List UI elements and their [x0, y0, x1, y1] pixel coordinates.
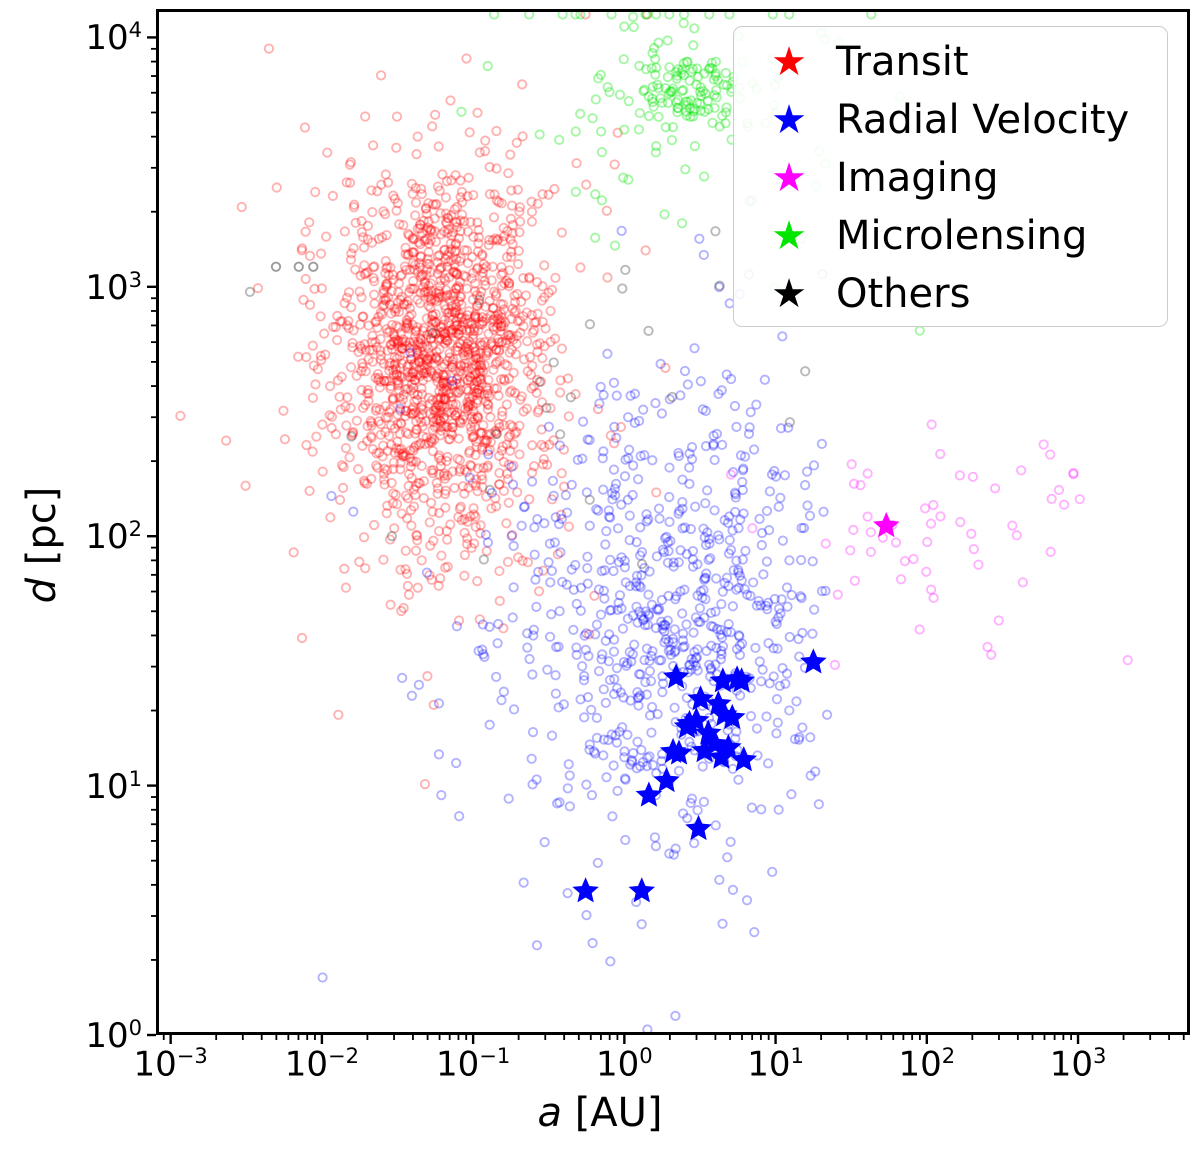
scatter-point — [750, 928, 758, 936]
scatter-point — [620, 747, 628, 755]
scatter-point — [757, 677, 765, 685]
scatter-point — [995, 616, 1003, 624]
x-tick-mantissa: 10 — [436, 1044, 479, 1084]
scatter-point — [528, 441, 536, 449]
scatter-point — [732, 423, 740, 431]
x-tick-exponent: 2 — [942, 1043, 955, 1068]
scatter-point — [723, 853, 731, 861]
scatter-point — [753, 724, 761, 732]
scatter-point — [505, 499, 513, 507]
scatter-point — [675, 767, 683, 775]
scatter-point — [603, 350, 611, 358]
legend-box[interactable]: ★Transit★Radial Velocity★Imaging★Microle… — [733, 26, 1168, 327]
scatter-point — [1046, 450, 1054, 458]
scatter-point — [565, 522, 573, 530]
scatter-point — [970, 545, 978, 553]
scatter-point — [1017, 466, 1025, 474]
scatter-point — [327, 492, 335, 500]
scatter-point — [783, 583, 791, 591]
scatter-point — [558, 469, 566, 477]
y-tick-exponent: 4 — [129, 17, 142, 42]
scatter-point — [309, 394, 317, 402]
scatter-point — [519, 878, 527, 886]
scatter-point — [663, 36, 671, 44]
legend-item-imaging[interactable]: ★Imaging — [734, 149, 1167, 207]
scatter-point — [466, 128, 474, 136]
scatter-point — [660, 210, 668, 218]
scatter-point — [591, 234, 599, 242]
scatter-point — [456, 176, 464, 184]
scatter-point — [678, 219, 686, 227]
scatter-point — [851, 577, 859, 585]
scatter-point — [423, 672, 431, 680]
scatter-point — [809, 557, 817, 565]
scatter-point — [600, 685, 608, 693]
legend-item-radial-velocity[interactable]: ★Radial Velocity — [734, 91, 1167, 149]
scatter-point — [629, 13, 637, 21]
scatter-point — [548, 731, 556, 739]
scatter-point — [786, 418, 794, 426]
scatter-point — [707, 642, 715, 650]
scatter-point — [712, 821, 720, 829]
scatter-point — [311, 380, 319, 388]
scatter-point — [508, 201, 516, 209]
scatter-point — [848, 460, 856, 468]
scatter-point — [671, 625, 679, 633]
scatter-point — [652, 12, 660, 19]
legend-star-icon: ★ — [764, 42, 814, 82]
scatter-point — [476, 148, 484, 156]
scatter-point — [510, 705, 518, 713]
scatter-point — [556, 548, 564, 556]
scatter-point — [665, 463, 673, 471]
scatter-point — [495, 480, 503, 488]
y-tick-mantissa: 10 — [85, 517, 128, 557]
scatter-point — [379, 556, 387, 564]
scatter-point — [461, 551, 469, 559]
scatter-point — [863, 469, 871, 477]
scatter-point — [360, 243, 368, 251]
scatter-point — [676, 391, 684, 399]
scatter-point — [582, 180, 590, 188]
scatter-point — [630, 23, 638, 31]
scatter-point — [281, 435, 289, 443]
scatter-point — [596, 383, 604, 391]
scatter-point — [755, 515, 763, 523]
scatter-point — [420, 494, 428, 502]
scatter-point — [408, 692, 416, 700]
scatter-point — [316, 312, 324, 320]
scatter-point — [753, 751, 761, 759]
scatter-point — [528, 217, 536, 225]
scatter-point — [654, 113, 662, 121]
scatter-point — [595, 399, 603, 407]
scatter-point — [668, 136, 676, 144]
scatter-point — [724, 620, 732, 628]
scatter-point — [547, 610, 555, 618]
scatter-point — [495, 567, 503, 575]
x-tick-label-5: 102 — [898, 1045, 955, 1081]
scatter-point — [763, 507, 771, 515]
x-axis-symbol: a — [537, 1090, 562, 1136]
scatter-point — [936, 450, 944, 458]
scatter-point — [509, 583, 517, 591]
x-tick-exponent: 0 — [639, 1043, 652, 1068]
scatter-point — [723, 574, 731, 582]
scatter-point — [751, 644, 759, 652]
scatter-point — [437, 551, 445, 559]
scatter-point — [533, 310, 541, 318]
scatter-point — [703, 486, 711, 494]
legend-label: Microlensing — [836, 213, 1087, 259]
y-axis-symbol: d — [19, 578, 65, 603]
scatter-point — [591, 190, 599, 198]
scatter-point — [729, 886, 737, 894]
scatter-point — [548, 567, 556, 575]
scatter-point — [743, 896, 751, 904]
scatter-point — [418, 556, 426, 564]
scatter-point — [514, 260, 522, 268]
scatter-point — [412, 150, 420, 158]
scatter-point — [326, 382, 334, 390]
scatter-point — [370, 299, 378, 307]
scatter-point — [546, 633, 554, 641]
scatter-point — [361, 564, 369, 572]
scatter-point — [582, 911, 590, 919]
y-tick-mantissa: 10 — [85, 19, 128, 59]
scatter-point — [586, 522, 594, 530]
scatter-point — [551, 274, 559, 282]
scatter-point — [810, 605, 818, 613]
scatter-point — [586, 320, 594, 328]
scatter-point — [909, 555, 917, 563]
scatter-point — [398, 509, 406, 517]
scatter-point — [438, 170, 446, 178]
scatter-point — [294, 353, 302, 361]
x-tick-exponent: −1 — [479, 1043, 510, 1068]
scatter-point — [323, 148, 331, 156]
scatter-point — [332, 430, 340, 438]
scatter-point — [516, 217, 524, 225]
scatter-point — [603, 207, 611, 215]
scatter-point — [748, 803, 756, 811]
scatter-point — [428, 122, 436, 130]
scatter-point — [552, 689, 560, 697]
scatter-point — [415, 681, 423, 689]
scatter-point — [407, 521, 415, 529]
scatter-point — [490, 12, 498, 19]
scatter-point — [616, 91, 624, 99]
scatter-point — [593, 714, 601, 722]
scatter-point — [306, 252, 314, 260]
scatter-point — [648, 456, 656, 464]
scatter-point — [573, 600, 581, 608]
scatter-point — [426, 518, 434, 526]
scatter-point — [414, 584, 422, 592]
scatter-point — [610, 379, 618, 387]
scatter-point — [543, 666, 551, 674]
scatter-point — [987, 651, 995, 659]
scatter-point — [556, 388, 564, 396]
scatter-point — [700, 172, 708, 180]
scatter-point — [785, 556, 793, 564]
scatter-point — [319, 467, 327, 475]
scatter-point — [386, 601, 394, 609]
scatter-point — [685, 463, 693, 471]
highlight-star-marker — [653, 767, 679, 792]
scatter-point — [457, 108, 465, 116]
scatter-point — [555, 136, 563, 144]
scatter-point — [867, 528, 875, 536]
scatter-point — [665, 518, 673, 526]
scatter-point — [750, 445, 758, 453]
scatter-point — [658, 409, 666, 417]
x-axis-title: a [AU] — [0, 1090, 1200, 1136]
scatter-point — [726, 536, 734, 544]
scatter-point — [620, 22, 628, 30]
scatter-point — [513, 290, 521, 298]
scatter-point — [621, 836, 629, 844]
scatter-point — [734, 776, 742, 784]
scatter-point — [785, 12, 793, 19]
scatter-point — [305, 218, 313, 226]
scatter-point — [402, 547, 410, 555]
scatter-point — [504, 169, 512, 177]
scatter-point — [991, 484, 999, 492]
scatter-point — [1060, 501, 1068, 509]
scatter-point — [458, 198, 466, 206]
x-tick-label-6: 103 — [1050, 1045, 1107, 1081]
scatter-point — [729, 602, 737, 610]
scatter-point — [696, 604, 704, 612]
scatter-point — [617, 227, 625, 235]
scatter-point — [599, 391, 607, 399]
scatter-point — [808, 630, 816, 638]
scatter-point — [369, 141, 377, 149]
scatter-point — [689, 41, 697, 49]
scatter-point — [678, 609, 686, 617]
x-tick-label-0: 10−3 — [133, 1045, 207, 1081]
scatter-point — [772, 729, 780, 737]
scatter-point — [646, 667, 654, 675]
scatter-point — [528, 362, 536, 370]
scatter-point — [747, 408, 755, 416]
scatter-point — [619, 624, 627, 632]
scatter-point — [1046, 548, 1054, 556]
scatter-point — [301, 123, 309, 131]
scatter-point — [623, 731, 631, 739]
scatter-point — [309, 341, 317, 349]
scatter-point — [620, 55, 628, 63]
scatter-point — [597, 127, 605, 135]
scatter-point — [621, 266, 629, 274]
scatter-point — [606, 556, 614, 564]
scatter-point — [505, 794, 513, 802]
scatter-point — [787, 790, 795, 798]
scatter-point — [368, 208, 376, 216]
scatter-point — [342, 444, 350, 452]
scatter-point — [572, 127, 580, 135]
scatter-point — [956, 471, 964, 479]
y-tick-exponent: 2 — [129, 516, 142, 541]
scatter-point — [360, 533, 368, 541]
scatter-point — [299, 296, 307, 304]
scatter-point — [927, 420, 935, 428]
legend-item-transit[interactable]: ★Transit — [734, 33, 1167, 91]
legend-label: Radial Velocity — [836, 97, 1129, 143]
scatter-point — [801, 481, 809, 489]
scatter-point — [302, 441, 310, 449]
scatter-point — [602, 773, 610, 781]
scatter-point — [823, 711, 831, 719]
scatter-point — [606, 957, 614, 965]
scatter-point — [774, 806, 782, 814]
scatter-point — [929, 501, 937, 509]
highlight-star-marker — [572, 877, 598, 902]
scatter-point — [493, 639, 501, 647]
highlight-star-marker — [873, 512, 899, 537]
scatter-point — [717, 600, 725, 608]
scatter-point — [927, 585, 935, 593]
scatter-point — [566, 802, 574, 810]
scatter-point — [665, 12, 673, 19]
legend-item-others[interactable]: ★Others — [734, 265, 1167, 323]
scatter-point — [361, 112, 369, 120]
scatter-point — [587, 706, 595, 714]
scatter-point — [176, 412, 184, 420]
scatter-point — [309, 263, 317, 271]
scatter-point — [562, 491, 570, 499]
scatter-point — [551, 671, 559, 679]
scatter-point — [414, 132, 422, 140]
scatter-point — [572, 188, 580, 196]
scatter-point — [540, 261, 548, 269]
scatter-point — [523, 643, 531, 651]
scatter-point — [318, 973, 326, 981]
legend-item-microlensing[interactable]: ★Microlensing — [734, 207, 1167, 265]
scatter-point — [785, 706, 793, 714]
scatter-point — [452, 759, 460, 767]
scatter-point — [766, 679, 774, 687]
scatter-point — [544, 191, 552, 199]
scatter-point — [644, 327, 652, 335]
scatter-point — [583, 553, 591, 561]
scatter-point — [747, 712, 755, 720]
scatter-point — [483, 547, 491, 555]
scatter-point — [566, 771, 574, 779]
scatter-point — [651, 833, 659, 841]
scatter-point — [437, 791, 445, 799]
x-axis-unit: [AU] — [575, 1090, 663, 1136]
x-tick-label-4: 101 — [747, 1045, 804, 1081]
scatter-point — [295, 263, 303, 271]
scatter-point — [592, 95, 600, 103]
scatter-point — [892, 538, 900, 546]
scatter-point — [329, 192, 337, 200]
scatter-point — [431, 111, 439, 119]
scatter-point — [525, 655, 533, 663]
scatter-point — [534, 568, 542, 576]
scatter-point — [776, 494, 784, 502]
scatter-point — [586, 740, 594, 748]
x-tick-mantissa: 10 — [285, 1044, 328, 1084]
scatter-point — [766, 487, 774, 495]
scatter-point — [849, 526, 857, 534]
scatter-point — [956, 518, 964, 526]
scatter-point — [634, 475, 642, 483]
y-tick-label-4: 104 — [0, 19, 142, 55]
legend-star-icon: ★ — [764, 216, 814, 256]
scatter-point — [435, 142, 443, 150]
scatter-point — [469, 191, 477, 199]
scatter-point — [558, 12, 566, 19]
scatter-point — [599, 485, 607, 493]
scatter-point — [518, 80, 526, 88]
scatter-point — [633, 738, 641, 746]
scatter-point — [614, 524, 622, 532]
scatter-point — [588, 791, 596, 799]
x-tick-mantissa: 10 — [898, 1044, 941, 1084]
scatter-point — [798, 723, 806, 731]
scatter-point — [509, 480, 517, 488]
scatter-point — [496, 597, 504, 605]
scatter-point — [741, 547, 749, 555]
x-tick-mantissa: 10 — [747, 1044, 790, 1084]
scatter-point — [523, 337, 531, 345]
scatter-point — [558, 344, 566, 352]
scatter-point — [602, 527, 610, 535]
x-tick-label-1: 10−2 — [285, 1045, 359, 1081]
scatter-point — [563, 889, 571, 897]
scatter-point — [665, 63, 673, 71]
scatter-point — [1076, 495, 1084, 503]
scatter-point — [462, 54, 470, 62]
scatter-point — [655, 504, 663, 512]
scatter-point — [569, 626, 577, 634]
scatter-point — [517, 522, 525, 530]
scatter-point — [641, 246, 649, 254]
scatter-point — [373, 187, 381, 195]
scatter-point — [254, 284, 262, 292]
scatter-point — [311, 188, 319, 196]
scatter-point — [565, 412, 573, 420]
scatter-point — [301, 228, 309, 236]
scatter-point — [759, 570, 767, 578]
scatter-point — [682, 620, 690, 628]
scatter-point — [697, 377, 705, 385]
scatter-point — [689, 629, 697, 637]
scatter-point — [336, 496, 344, 504]
scatter-point — [815, 800, 823, 808]
scatter-point — [290, 548, 298, 556]
highlight-star-marker — [800, 648, 826, 673]
scatter-point — [509, 542, 517, 550]
scatter-point — [613, 787, 621, 795]
scatter-point — [474, 239, 482, 247]
scatter-point — [801, 367, 809, 375]
scatter-point — [637, 746, 645, 754]
scatter-point — [502, 519, 510, 527]
scatter-point — [693, 806, 701, 814]
scatter-point — [764, 639, 772, 647]
scatter-point — [701, 499, 709, 507]
scatter-point — [549, 477, 557, 485]
scatter-point — [412, 547, 420, 555]
scatter-point — [647, 677, 655, 685]
scatter-point — [506, 150, 514, 158]
scatter-point — [690, 24, 698, 32]
scatter-point — [638, 920, 646, 928]
